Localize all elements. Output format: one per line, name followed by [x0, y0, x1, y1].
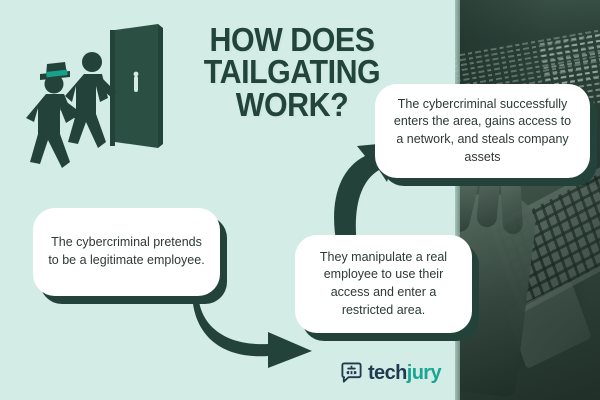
door-and-figures-graphic	[22, 22, 182, 187]
headline-line-2: TAILGATING	[182, 56, 403, 88]
step-callout-2[interactable]: They manipulate a real employee to use t…	[295, 235, 472, 333]
arrow-body	[192, 290, 312, 368]
step-callout-3[interactable]: The cybercriminal successfully enters th…	[375, 84, 590, 178]
door-handle	[134, 76, 138, 92]
finger	[500, 178, 523, 235]
logo-word-tech: tech	[368, 362, 407, 384]
step-callout-3-text: The cybercriminal successfully enters th…	[389, 96, 576, 167]
door-edge	[158, 24, 163, 148]
background-photo-panel	[455, 0, 600, 400]
infographic-canvas: HOW DOES TAILGATING WORK? The cybercrimi…	[0, 0, 600, 400]
logo-wordmark: techjury	[368, 363, 441, 383]
employee-figure	[65, 52, 116, 148]
door-lock	[134, 72, 139, 77]
headline-line-1: HOW DOES	[182, 24, 403, 56]
laptop-hands-photo	[455, 185, 600, 400]
page-title: HOW DOES TAILGATING WORK?	[182, 24, 403, 121]
speech-bubble-icon	[341, 362, 362, 383]
techjury-logo[interactable]: techjury	[341, 362, 441, 383]
cybercriminal-figure	[26, 62, 80, 168]
panel-edge-highlight	[455, 0, 460, 400]
step-callout-1[interactable]: The cybercriminal pretends to be a legit…	[33, 208, 220, 296]
step-callout-2-text: They manipulate a real employee to use t…	[309, 249, 458, 320]
finger	[476, 170, 501, 228]
logo-word-jury: jury	[407, 362, 441, 384]
tailgating-illustration	[22, 22, 182, 187]
headline-line-3: WORK?	[182, 89, 403, 121]
step-callout-1-text: The cybercriminal pretends to be a legit…	[47, 234, 206, 270]
